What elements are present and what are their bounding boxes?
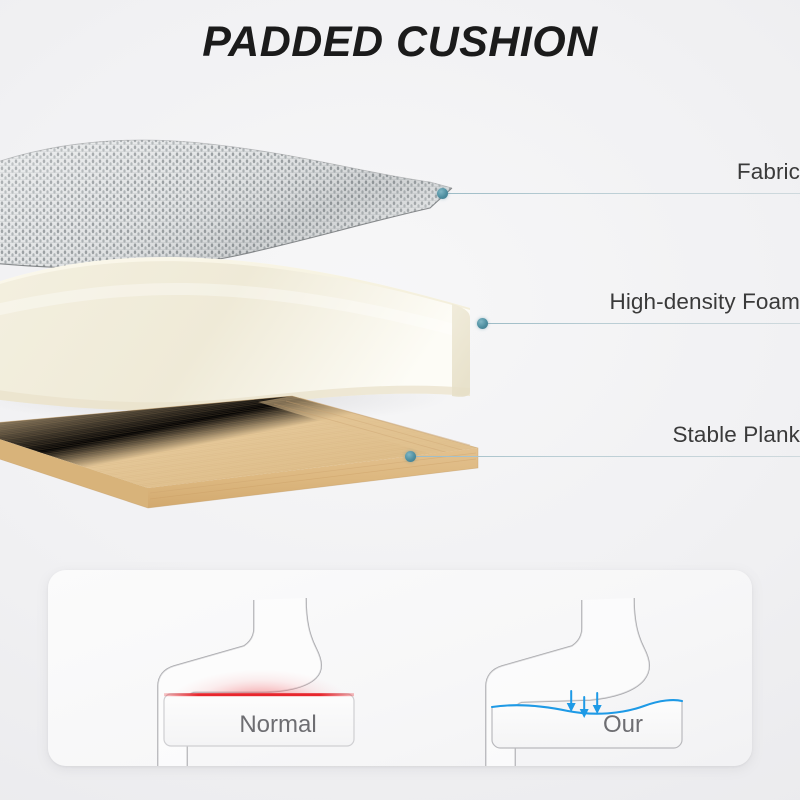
callout-plank-label: Stable Plank — [672, 422, 800, 448]
callout-foam-label: High-density Foam — [609, 289, 800, 315]
infographic-canvas: PADDED CUSHION — [0, 0, 800, 800]
callout-fabric-line — [447, 193, 800, 194]
comparison-figure-normal — [158, 598, 354, 766]
callout-plank: Stable Plank — [405, 403, 800, 457]
comparison-label-our: Our — [543, 711, 703, 739]
callout-foam: High-density Foam — [477, 270, 800, 324]
callout-foam-line — [487, 323, 800, 324]
callout-fabric: Fabric — [437, 150, 800, 194]
callout-foam-marker-dot — [477, 318, 488, 329]
callout-fabric-label: Fabric — [737, 159, 800, 185]
comparison-label-normal: Normal — [198, 711, 358, 739]
callout-fabric-marker-dot — [437, 188, 448, 199]
callout-plank-marker-dot — [405, 451, 416, 462]
callout-plank-line — [415, 456, 800, 457]
comparison-panel: Normal Our — [48, 570, 752, 766]
layer-foam-shape — [0, 257, 470, 410]
page-title: PADDED CUSHION — [0, 18, 800, 67]
comparison-figure-our — [486, 598, 682, 766]
layer-fabric-shape — [0, 140, 452, 268]
